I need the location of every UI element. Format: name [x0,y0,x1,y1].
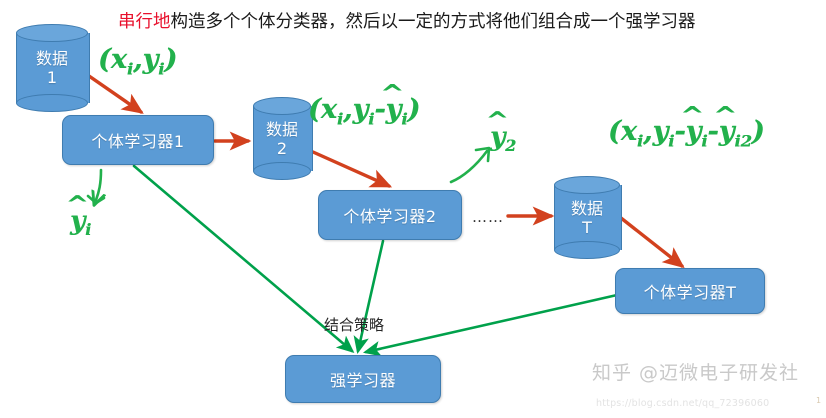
handwritten-yhat-i: yi [70,206,91,239]
node-learner-1[interactable]: 个体学习器1 [62,115,214,165]
node-data-2[interactable]: 数据 2 [253,97,311,180]
green-connector-learnerT-to-strong [366,288,648,352]
red-arrow-data2-to-learner2 [313,152,389,186]
watermark-tick: 1 [816,396,821,405]
headline-emphasis: 串行地 [118,12,171,32]
watermark-url: https://blog.csdn.net/qq_72396060 [596,398,769,409]
node-learner-t[interactable]: 个体学习器T [615,268,765,314]
hw-f3-yhat2: y [719,116,735,147]
hw-f3-x: x [621,116,637,147]
hw-f3-yhat1: y [686,116,702,147]
node-data-t-line2: T [582,218,592,237]
handwritten-formula-2: (xi,yi‑yi) [308,94,420,128]
ellipsis-label: …… [472,208,504,226]
node-data-t-label: 数据 T [554,176,620,259]
headline-rest: 构造多个个体分类器，然后以一定的方式将他们组合成一个强学习器 [171,12,696,32]
red-arrow-dataT-to-learnerT [621,218,682,266]
node-data-2-line2: 2 [277,139,287,158]
handwritten-up-arrow-icon [451,148,489,182]
hw-f2-yhat: y [386,94,402,125]
node-data-t-line1: 数据 [571,199,603,218]
page-title: 串行地构造多个个体分类器，然后以一定的方式将他们组合成一个强学习器 [118,9,824,35]
watermark-text: 知乎 @迈微电子研发社 [592,358,799,385]
node-learner-2[interactable]: 个体学习器2 [318,190,462,240]
node-data-2-label: 数据 2 [253,97,311,180]
node-data-2-line1: 数据 [266,120,298,139]
node-data-1-line1: 数据 [36,49,68,68]
combine-strategy-label: 结合策略 [324,314,384,335]
hw-f2-x: x [321,94,337,125]
hw-f3-y: y [652,116,668,147]
handwritten-formula-3: (xi,yi‑yi‑yi2) [608,116,765,150]
node-data-1-label: 数据 1 [16,24,88,112]
node-data-1[interactable]: 数据 1 [16,24,88,112]
handwritten-yhat-2: y2 [490,122,516,155]
hw-f2-y: y [352,94,368,125]
node-data-1-line2: 1 [47,68,57,87]
handwritten-formula-1: (xi,yi) [98,44,177,78]
handwritten-down-arrow-icon [88,170,104,203]
diagram-canvas: 串行地构造多个个体分类器，然后以一定的方式将他们组合成一个强学习器 数据 1 数… [0,0,826,418]
hw-f1-x: x [111,44,127,75]
node-data-t[interactable]: 数据 T [554,176,620,259]
node-strong-learner[interactable]: 强学习器 [285,355,441,403]
hw-f1-y: y [142,44,158,75]
